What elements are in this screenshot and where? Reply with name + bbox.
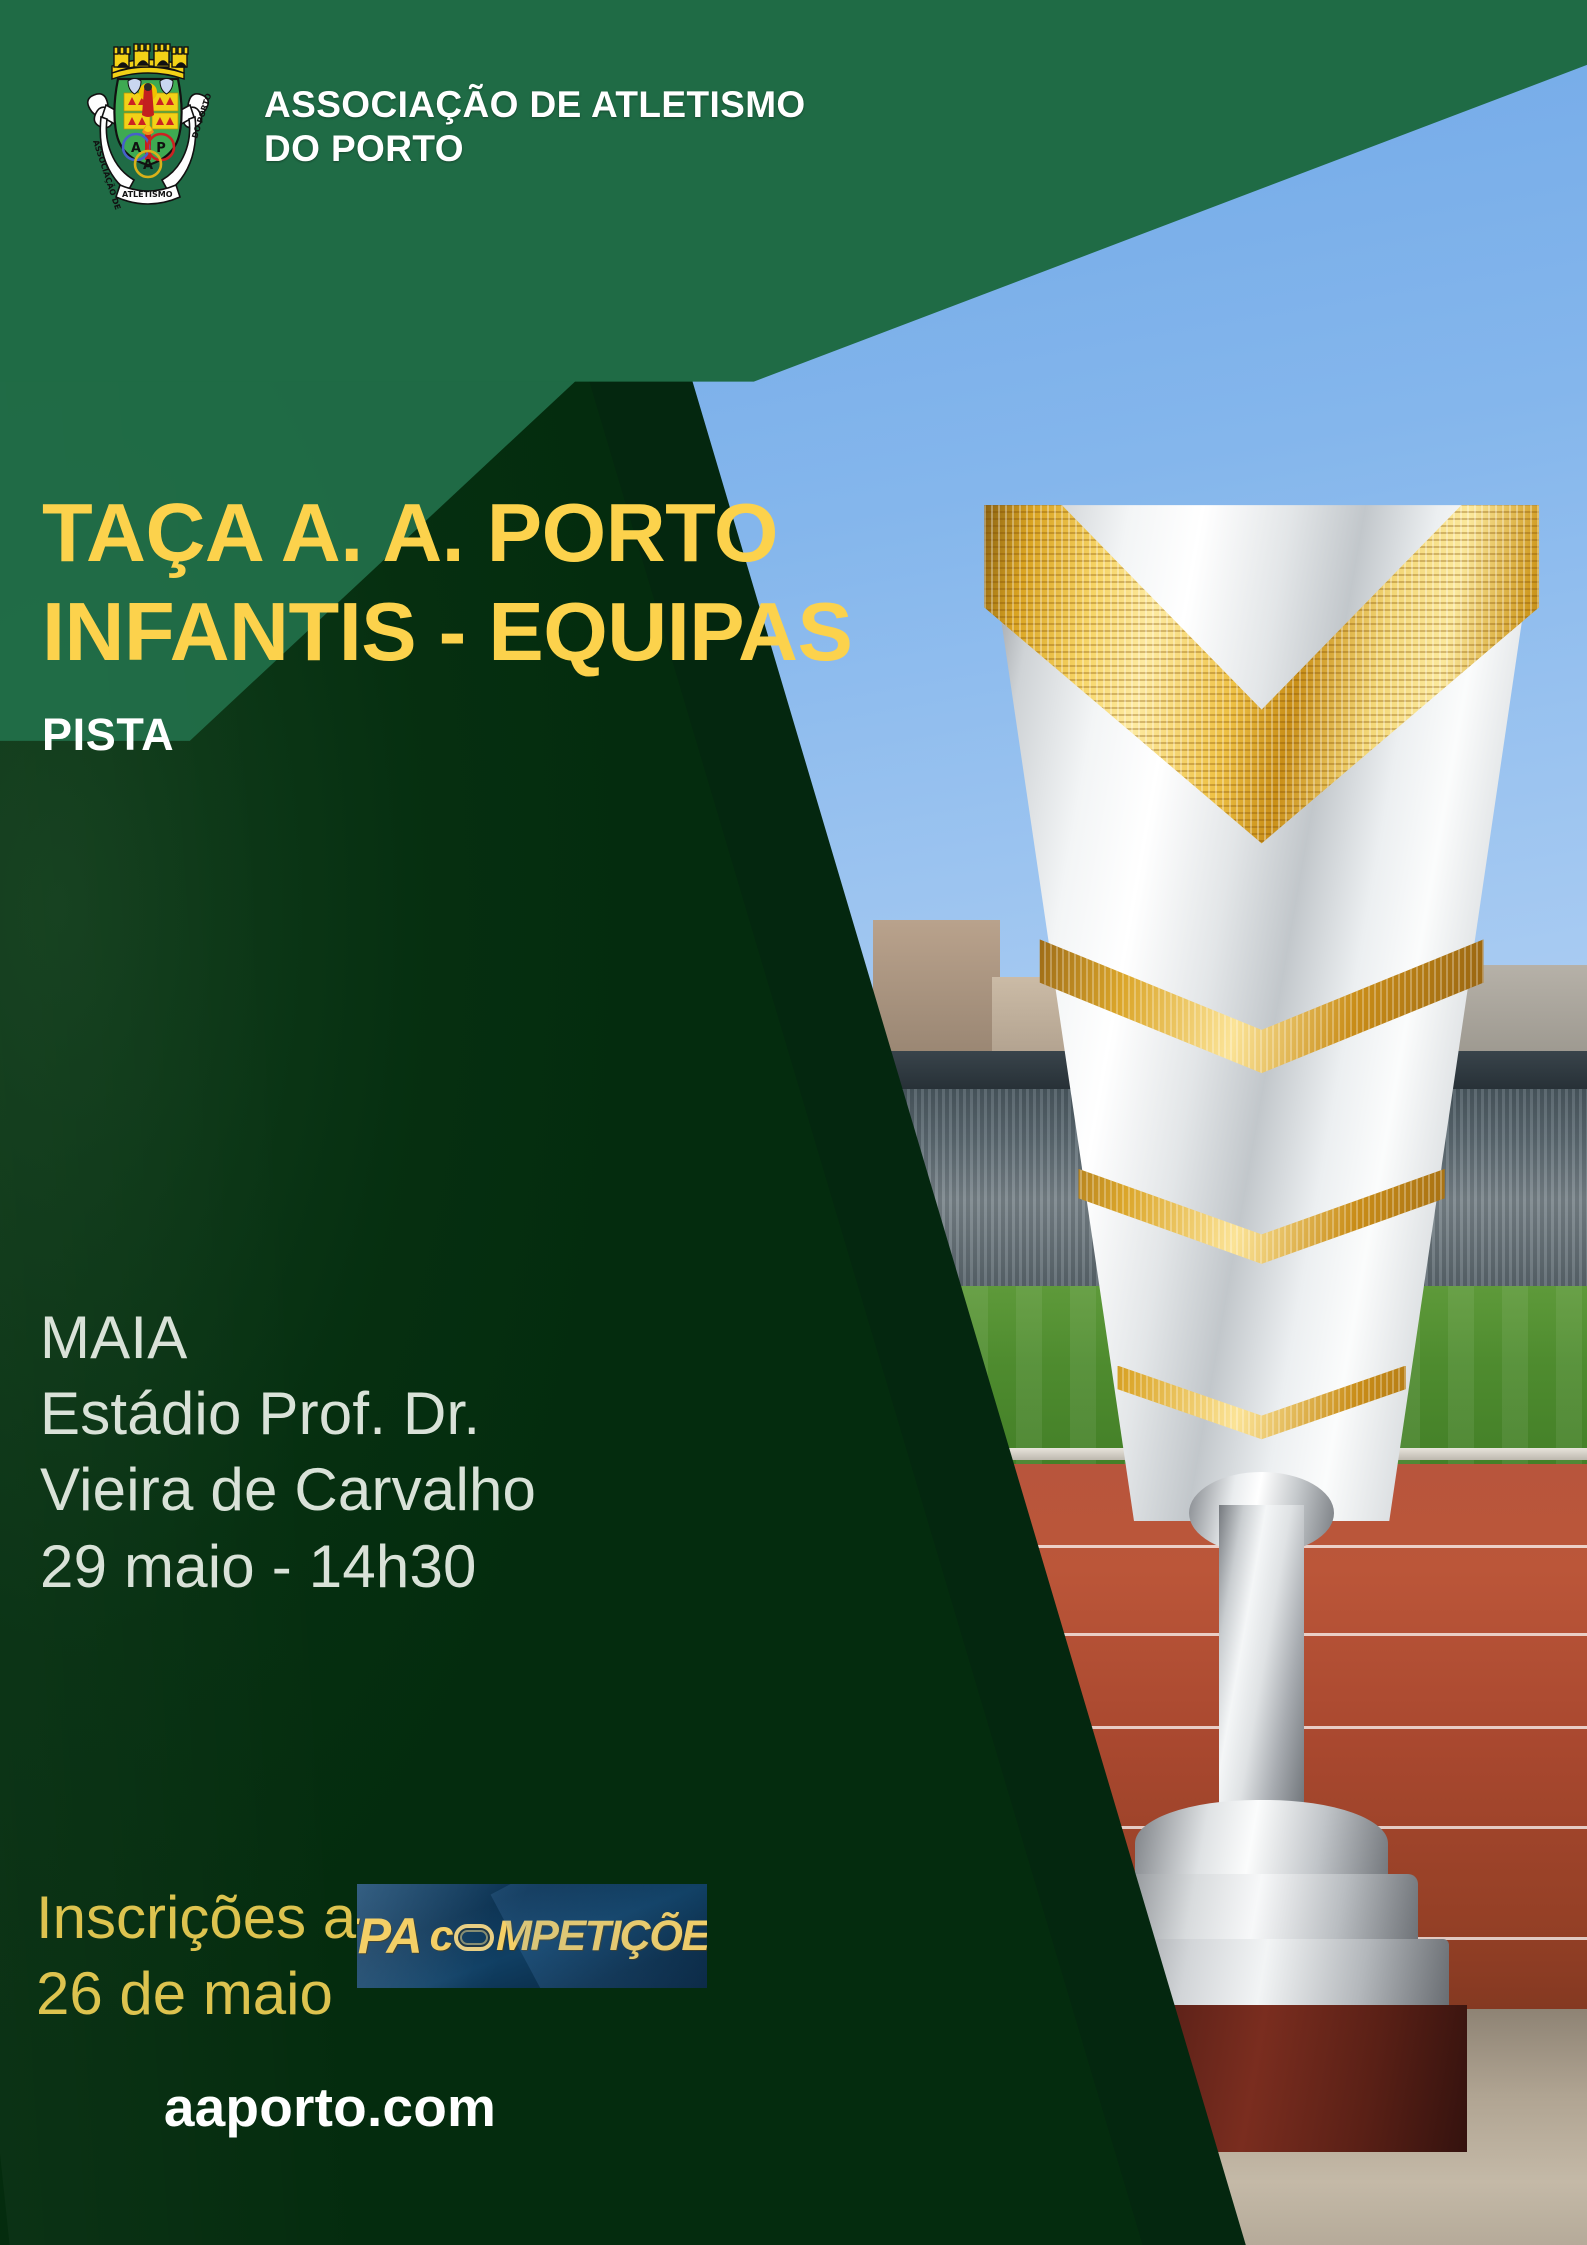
venue-city: MAIA	[40, 1300, 800, 1376]
title-line-1: TAÇA A. A. PORTO	[42, 487, 1052, 580]
fpa-wordmark: FPA	[357, 1907, 422, 1965]
title-block: TAÇA A. A. PORTO INFANTIS - EQUIPAS PIST…	[42, 487, 1052, 761]
running-track-oval-icon	[454, 1924, 494, 1951]
venue-stadium-line-1: Estádio Prof. Dr.	[40, 1376, 800, 1452]
fpa-competicoes-logo: FPA c MPETIÇÕES	[357, 1884, 707, 1988]
organisation-name: ASSOCIAÇÃO DE ATLETISMO DO PORTO	[264, 35, 806, 170]
competicoes-prefix: c	[430, 1912, 452, 1961]
svg-text:A: A	[143, 158, 153, 173]
svg-text:P: P	[156, 141, 166, 156]
venue-stadium-line-2: Vieira de Carvalho	[40, 1452, 800, 1528]
website-url: aaporto.com	[0, 2075, 660, 2139]
svg-text:ATLETISMO: ATLETISMO	[122, 190, 173, 199]
competicoes-wordmark: c MPETIÇÕES	[430, 1912, 707, 1961]
brand-header: ASSOCIAÇÃO DE DO PORTO ATLETISMO	[60, 35, 806, 211]
competicoes-suffix: MPETIÇÕES	[496, 1912, 707, 1961]
venue-datetime: 29 maio - 14h30	[40, 1529, 800, 1605]
title-subtitle: PISTA	[42, 709, 1052, 761]
aap-crest-icon: ASSOCIAÇÃO DE DO PORTO ATLETISMO	[60, 35, 236, 211]
poster-content: ASSOCIAÇÃO DE DO PORTO ATLETISMO	[0, 0, 1587, 2245]
svg-text:A: A	[131, 141, 141, 156]
venue-block: MAIA Estádio Prof. Dr. Vieira de Carvalh…	[40, 1300, 800, 1605]
title-line-2: INFANTIS - EQUIPAS	[42, 586, 1052, 679]
event-poster: ASSOCIAÇÃO DE DO PORTO ATLETISMO	[0, 0, 1587, 2245]
